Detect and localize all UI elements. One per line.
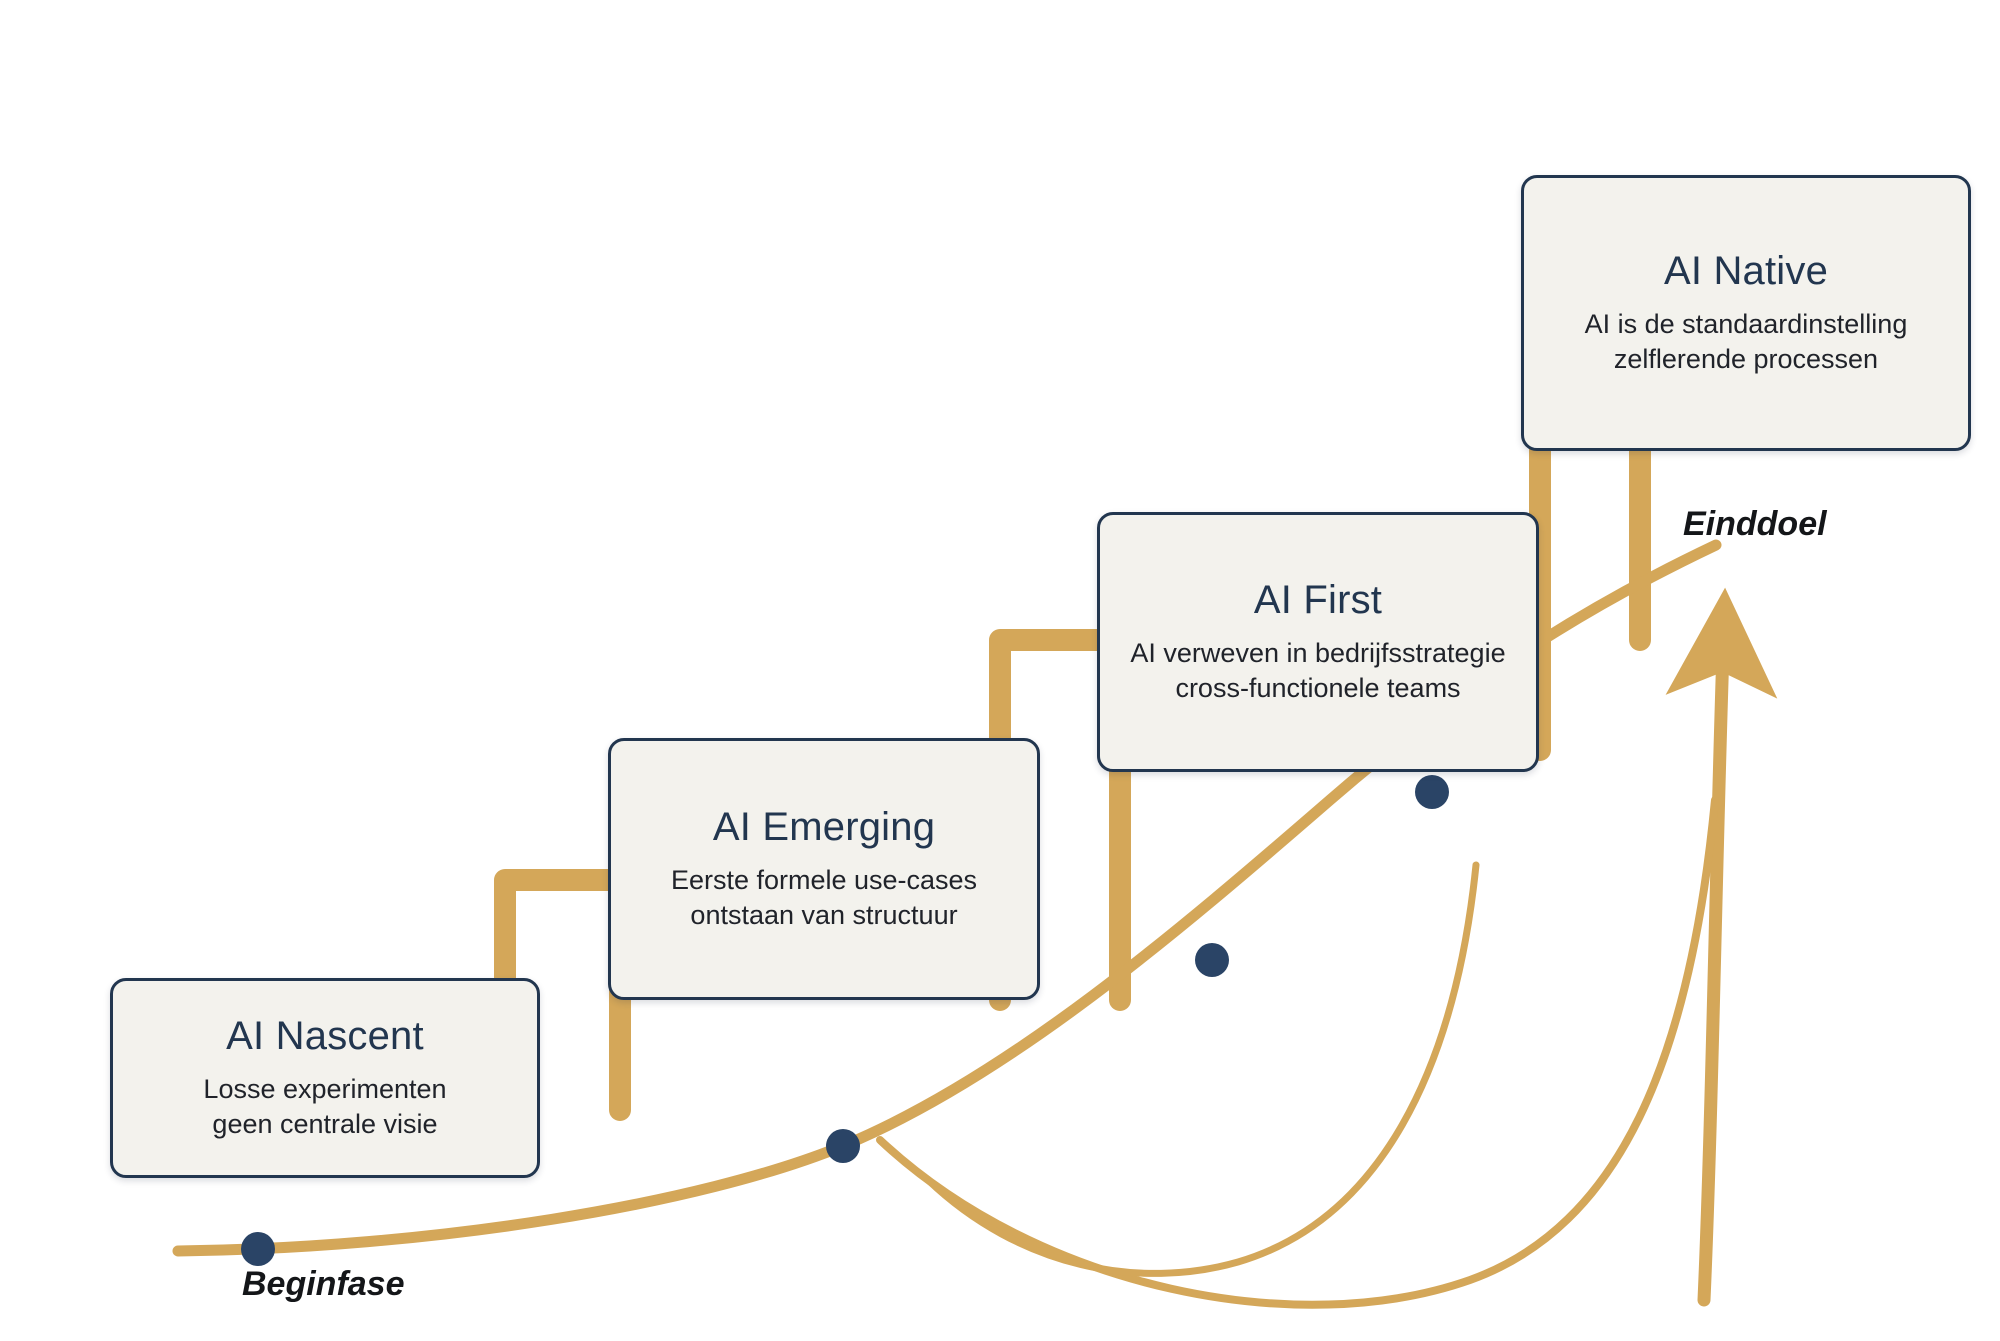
maturity-ladder-diagram: AI Nascent Losse experimenten geen centr…: [0, 0, 2000, 1341]
stage-card-ai-first[interactable]: AI First AI verweven in bedrijfsstrategi…: [1097, 512, 1539, 772]
milestone-dot-3: [1195, 943, 1229, 977]
stage-description: Losse experimenten geen centrale visie: [187, 1072, 462, 1141]
stage-title: AI Nascent: [226, 1014, 424, 1058]
stage-description: AI verweven in bedrijfsstrategie cross-f…: [1114, 636, 1521, 705]
stage-card-ai-emerging[interactable]: AI Emerging Eerste formele use-cases ont…: [608, 738, 1040, 1000]
stage-description: Eerste formele use-cases ontstaan van st…: [655, 863, 993, 932]
stage-description: AI is de standaardinstelling zelflerende…: [1569, 307, 1924, 376]
stage-title: AI First: [1254, 578, 1382, 622]
start-label: Beginfase: [242, 1265, 405, 1304]
milestone-dot-4: [1415, 775, 1449, 809]
stage-title: AI Native: [1664, 249, 1828, 293]
milestone-dot-beginfase: [241, 1232, 275, 1266]
goal-arrow: [1704, 650, 1723, 1300]
stage-card-ai-native[interactable]: AI Native AI is de standaardinstelling z…: [1521, 175, 1971, 451]
goal-label: Einddoel: [1683, 505, 1827, 544]
stage-title: AI Emerging: [713, 805, 935, 849]
milestone-dot-2: [826, 1129, 860, 1163]
stage-card-ai-nascent[interactable]: AI Nascent Losse experimenten geen centr…: [110, 978, 540, 1178]
